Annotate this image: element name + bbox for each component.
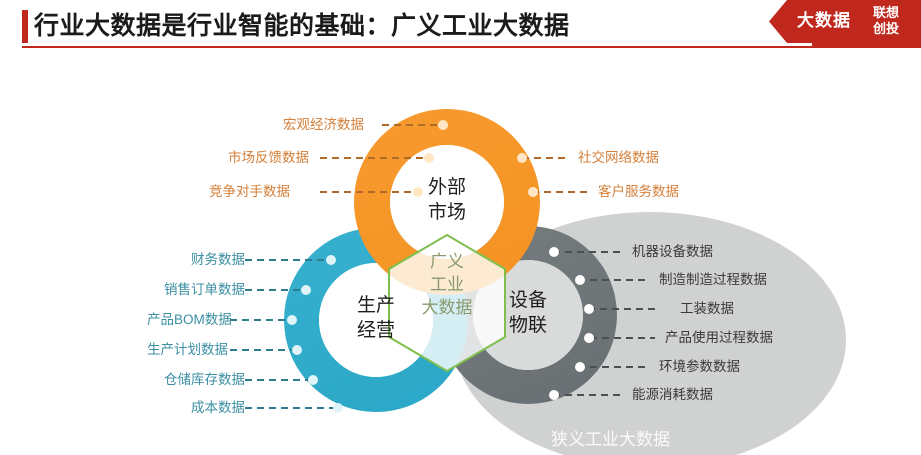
label-external-left-3: 竞争对手数据 xyxy=(209,184,290,200)
label-external-right-2: 客户服务数据 xyxy=(598,184,679,200)
label-operations-6: 成本数据 xyxy=(191,400,245,416)
label-iot-1: 机器设备数据 xyxy=(632,244,713,260)
hexagon-label: 广义 工业 大数据 xyxy=(397,250,497,319)
header-divider xyxy=(22,46,812,48)
label-iot-4: 产品使用过程数据 xyxy=(665,330,773,346)
label-iot-6: 能源消耗数据 xyxy=(632,387,713,403)
label-operations-2: 销售订单数据 xyxy=(164,282,245,298)
brand-block: 大数据 联想 创投 xyxy=(769,0,921,43)
brand-secondary-label: 联想 创投 xyxy=(873,5,915,37)
label-external-right-1: 社交网络数据 xyxy=(578,150,659,166)
label-external-left-1: 宏观经济数据 xyxy=(283,117,364,133)
brand-primary-label: 大数据 xyxy=(797,10,865,32)
venn-diagram: 外部 市场 生产 经营 设备 物联 广义 工业 大数据 狭义工业大数据 宏观经济… xyxy=(0,50,921,455)
label-iot-3: 工装数据 xyxy=(680,301,734,317)
header-divider-thick xyxy=(812,43,921,48)
label-operations-4: 生产计划数据 xyxy=(147,342,228,358)
page-title: 行业大数据是行业智能的基础：广义工业大数据 xyxy=(34,11,570,42)
label-operations-5: 仓储库存数据 xyxy=(164,372,245,388)
label-iot-5: 环境参数数据 xyxy=(659,359,740,375)
label-external-left-2: 市场反馈数据 xyxy=(228,150,309,166)
ring-label-external: 外部 市场 xyxy=(397,175,497,225)
title-accent-bar xyxy=(22,10,28,43)
label-operations-1: 财务数据 xyxy=(191,252,245,268)
label-iot-2: 制造制造过程数据 xyxy=(659,272,767,288)
page-header: 行业大数据是行业智能的基础：广义工业大数据 大数据 联想 创投 xyxy=(0,0,921,50)
narrow-scope-label: 狭义工业大数据 xyxy=(551,425,670,450)
label-operations-3: 产品BOM数据 xyxy=(147,312,232,328)
